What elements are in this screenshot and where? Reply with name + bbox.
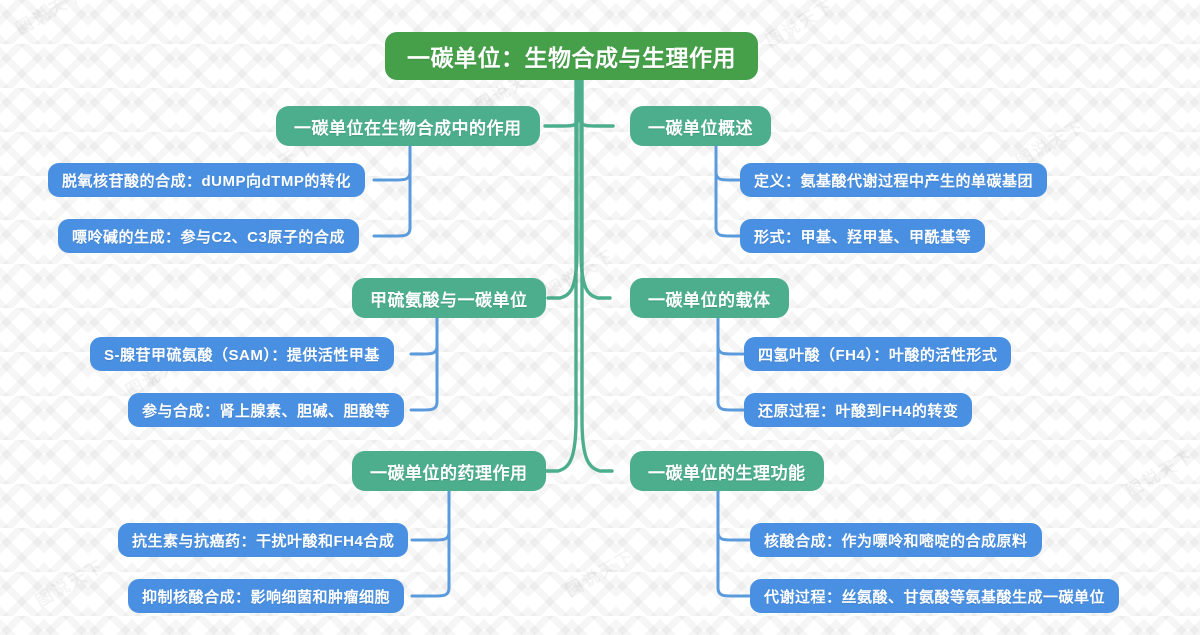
- watermark: 图说天下: [560, 542, 638, 602]
- leaf-link-2-2: [716, 146, 740, 236]
- trunk-links: [545, 80, 613, 471]
- leaf-node-3-1[interactable]: S-腺苷甲硫氨酸（SAM）：提供活性甲基: [90, 337, 394, 371]
- mindmap-canvas: 图说天下 图说天下 图说天下 图说天下 图说天下 图说天下 图说天下 图说天下 …: [0, 0, 1200, 635]
- watermark: 图说天下: [30, 552, 108, 612]
- leaf-node-6-2[interactable]: 代谢过程：丝氨酸、甘氨酸等氨基酸生成一碳单位: [750, 579, 1119, 613]
- leaf-node-6-1[interactable]: 核酸合成：作为嘌呤和嘧啶的合成原料: [750, 523, 1042, 557]
- watermark: 图说天下: [540, 242, 618, 302]
- branch-node-4[interactable]: 一碳单位的载体: [630, 278, 789, 318]
- trunk-to-branch-1: [545, 80, 578, 126]
- leaf-node-2-1[interactable]: 定义：氨基酸代谢过程中产生的单碳基团: [740, 163, 1047, 197]
- branch-node-1[interactable]: 一碳单位在生物合成中的作用: [276, 106, 540, 146]
- root-node[interactable]: 一碳单位：生物合成与生理作用: [385, 32, 758, 80]
- watermark: 图说天下: [760, 0, 838, 52]
- trunk-to-branch-2: [580, 80, 613, 126]
- leaf-link-4-2: [718, 318, 744, 410]
- trunk-to-branch-5: [546, 80, 576, 471]
- leaf-node-5-1[interactable]: 抗生素与抗癌药：干扰叶酸和FH4合成: [118, 523, 408, 557]
- leaf-link-2-1: [716, 146, 740, 180]
- leaf-node-1-1[interactable]: 脱氧核苷酸的合成：dUMP向dTMP的转化: [48, 163, 365, 197]
- leaf-link-1-1: [374, 146, 410, 180]
- branch-node-6[interactable]: 一碳单位的生理功能: [630, 451, 824, 491]
- branch-node-5[interactable]: 一碳单位的药理作用: [352, 451, 546, 491]
- trunk-to-branch-4: [581, 80, 610, 298]
- leaf-node-5-2[interactable]: 抑制核酸合成：影响细菌和肿瘤细胞: [128, 579, 404, 613]
- watermark: 图说天下: [10, 0, 88, 40]
- leaf-node-4-2[interactable]: 还原过程：叶酸到FH4的转变: [744, 393, 972, 427]
- watermark: 图说天下: [1120, 442, 1198, 502]
- leaf-link-4-1: [718, 318, 744, 354]
- leaf-link-6-2: [718, 491, 750, 596]
- leaf-node-3-2[interactable]: 参与合成：肾上腺素、胆碱、胆酸等: [128, 393, 404, 427]
- leaf-link-5-2: [412, 491, 449, 596]
- leaf-link-1-2: [374, 146, 410, 236]
- leaf-node-1-2[interactable]: 嘌呤碱的生成：参与C2、C3原子的合成: [58, 219, 359, 253]
- leaf-link-6-1: [718, 491, 750, 540]
- leaf-link-3-1: [411, 318, 437, 354]
- branch-node-2[interactable]: 一碳单位概述: [630, 106, 771, 146]
- branch-node-3[interactable]: 甲硫氨酸与一碳单位: [352, 278, 546, 318]
- leaf-link-3-2: [411, 318, 437, 410]
- leaf-node-4-1[interactable]: 四氢叶酸（FH4）：叶酸的活性形式: [744, 337, 1011, 371]
- leaf-link-5-1: [412, 491, 449, 540]
- trunk-to-branch-6: [582, 80, 612, 471]
- trunk-to-branch-3: [548, 80, 577, 298]
- leaf-links: [374, 146, 750, 596]
- leaf-node-2-2[interactable]: 形式：甲基、羟甲基、甲酰基等: [740, 219, 985, 253]
